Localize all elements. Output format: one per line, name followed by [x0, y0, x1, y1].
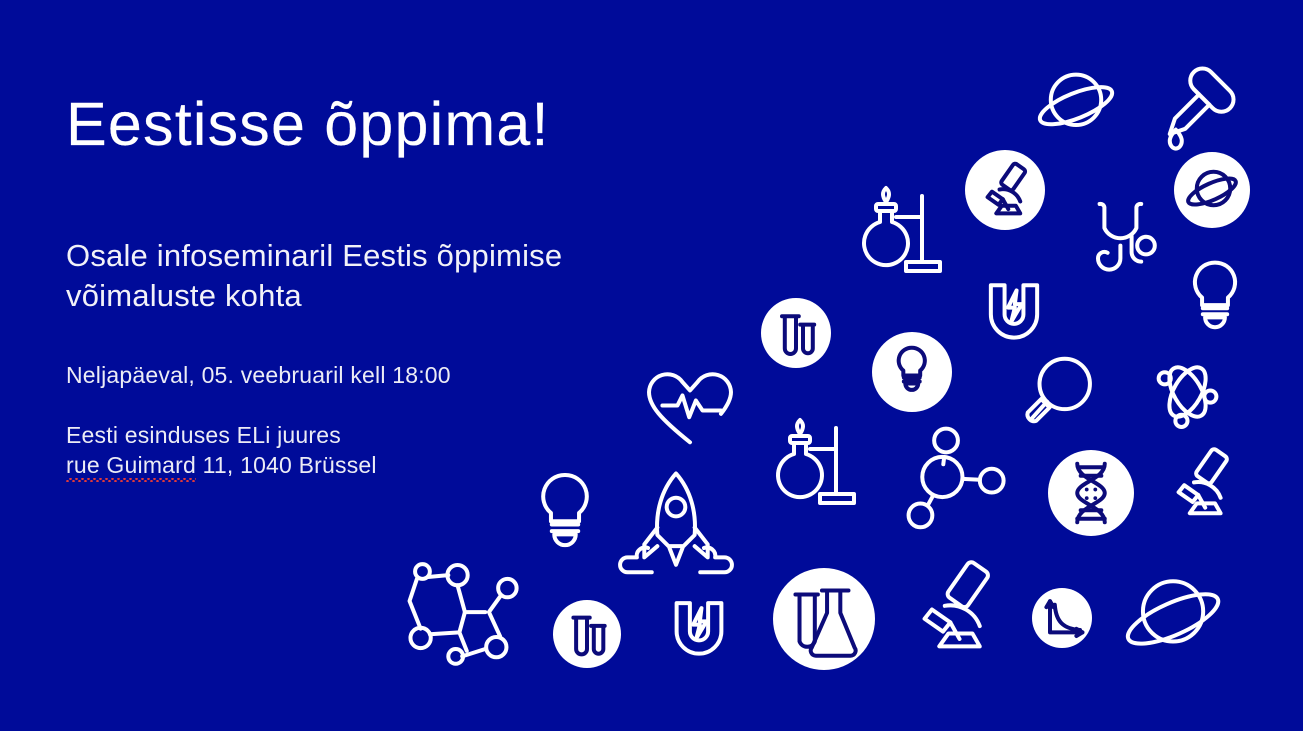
venue-organisation: Eesti esinduses ELi juures	[66, 420, 377, 450]
poster-canvas: Eestisse õppima! Osale infoseminaril Ees…	[0, 0, 1303, 731]
page-title: Eestisse õppima!	[66, 92, 550, 158]
dropper-icon	[1156, 60, 1242, 146]
heartbeat-icon	[644, 368, 736, 448]
venue-address: rue Guimard 11, 1040 Brüssel	[66, 450, 377, 480]
atom-icon	[1148, 354, 1224, 430]
test-tubes-icon	[553, 600, 621, 668]
test-tubes-icon	[761, 298, 831, 368]
flask-tube-icon	[773, 568, 875, 670]
venue-address-rest: 11, 1040 Brüssel	[196, 452, 377, 478]
lightbulb-icon	[1188, 258, 1242, 328]
lightbulb-icon	[536, 470, 594, 546]
spellcheck-underline: rue Guimard	[66, 450, 196, 480]
graph-curve-icon	[1032, 588, 1092, 648]
microscope-icon	[1166, 446, 1236, 516]
planet-icon	[1174, 152, 1250, 228]
rocket-icon	[620, 466, 732, 576]
planet-icon	[1122, 570, 1226, 666]
magnet-icon	[984, 280, 1044, 342]
molecule-ring-icon	[404, 560, 524, 666]
event-datetime: Neljapäeval, 05. veebruaril kell 18:00	[66, 362, 451, 389]
stethoscope-icon	[1082, 196, 1162, 276]
molecule-icon	[902, 424, 1012, 530]
magnet-icon	[670, 598, 728, 658]
event-venue: Eesti esinduses ELi juures rue Guimard 1…	[66, 420, 377, 480]
microscope-icon	[908, 558, 1000, 650]
subtitle: Osale infoseminaril Eestis õppimise võim…	[66, 236, 686, 317]
lightbulb-icon	[872, 332, 952, 412]
burner-flask-icon	[766, 418, 866, 518]
burner-flask-icon	[852, 186, 952, 286]
magnifier-icon	[1016, 352, 1100, 436]
planet-icon	[1034, 62, 1118, 146]
microscope-icon	[965, 150, 1045, 230]
dna-icon	[1048, 450, 1134, 536]
